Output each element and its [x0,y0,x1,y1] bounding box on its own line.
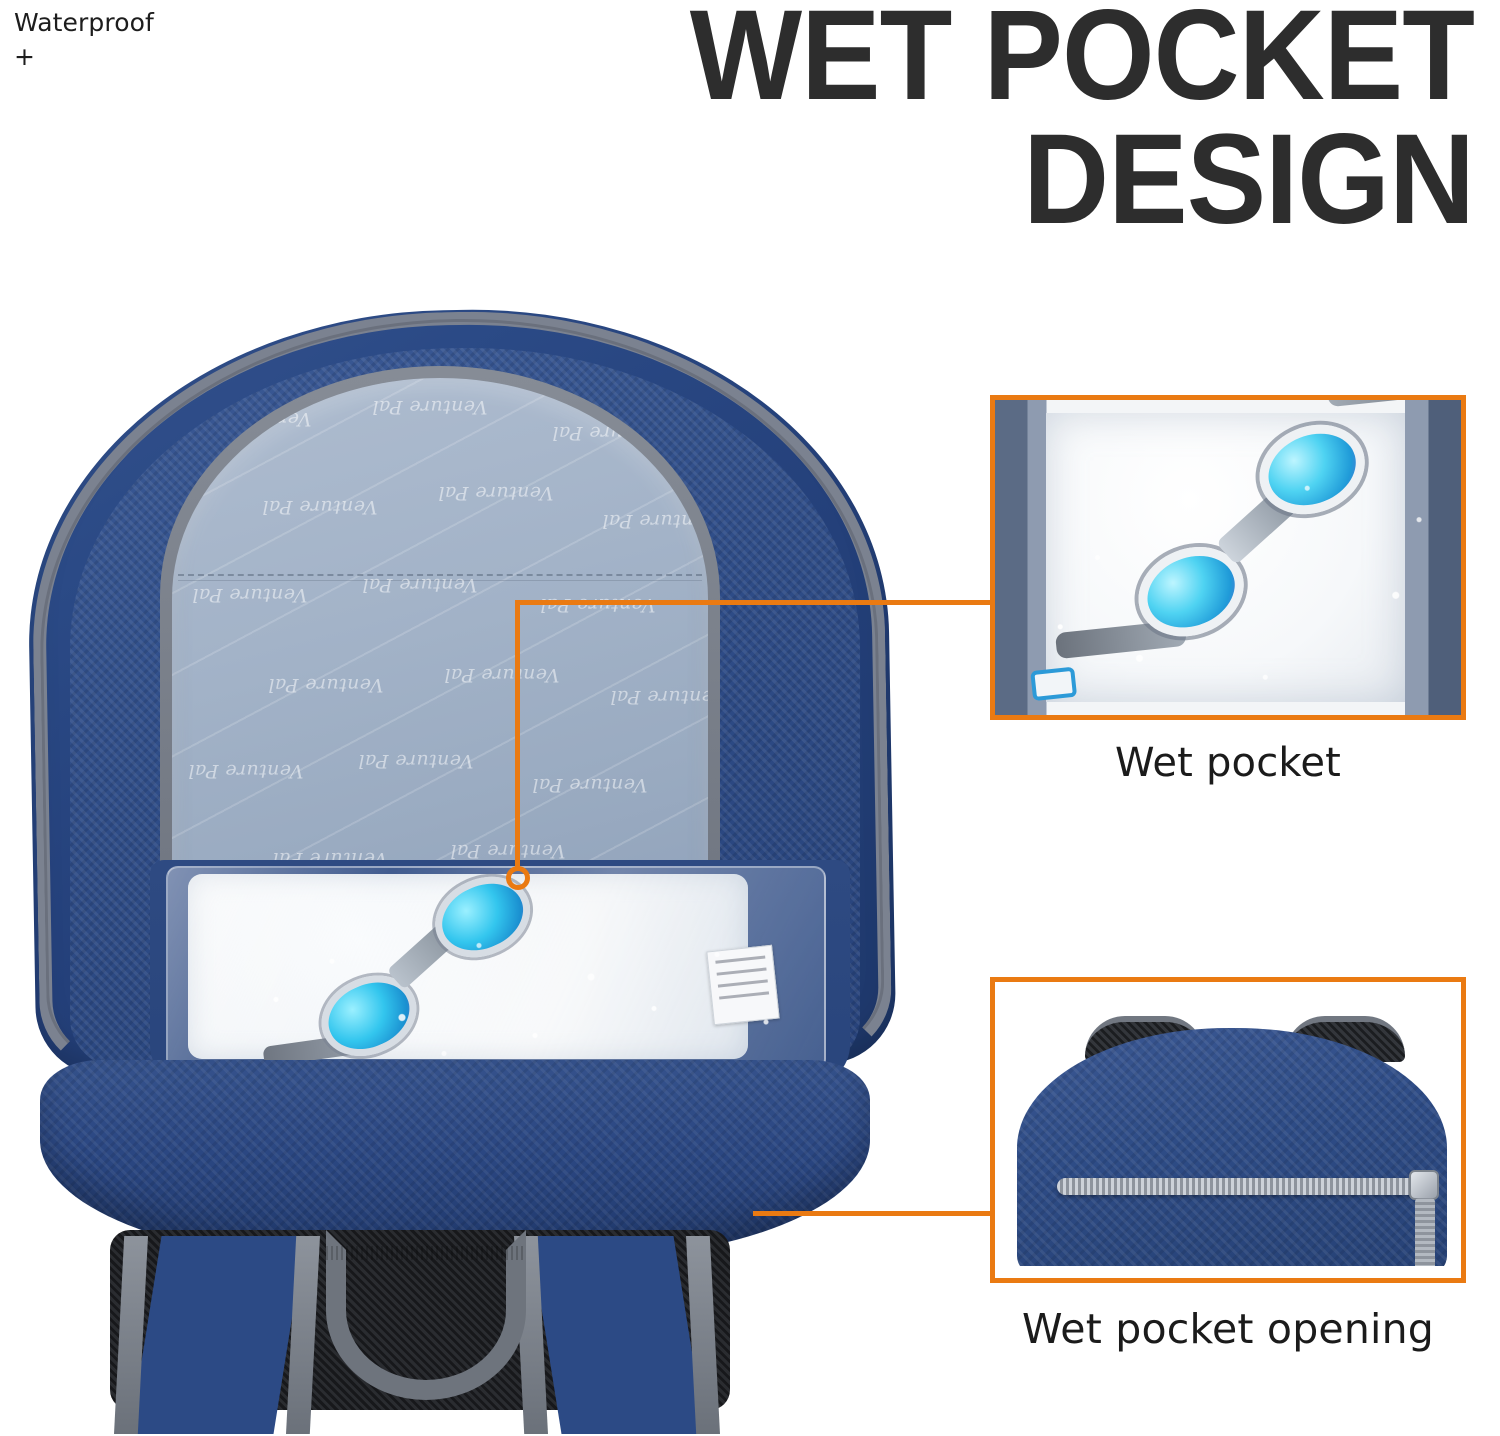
fabric-watermark: Venture Pal [602,510,708,532]
callout-marker-ring [506,866,530,890]
connector-line-bottom [753,1211,993,1216]
main-product-photo: Venture PalVenture PalVenture PalVenture… [0,300,960,1436]
connector-line-top-vertical [515,600,520,870]
detail-zipper-teeth [1057,1178,1425,1195]
fabric-watermark: Venture Pal [552,422,667,444]
fabric-watermark: Venture Pal [450,840,565,862]
product-feature-graphic: Waterproof + WET POCKET DESIGN Venture P… [0,0,1500,1436]
fabric-watermark: Venture Pal [188,760,303,782]
wet-pocket-detail-photo [995,400,1461,715]
fabric-watermark: Venture Pal [262,496,377,518]
fabric-watermark: Venture Pal [192,584,307,606]
fabric-watermark: Venture Pal [540,594,655,616]
fabric-watermark: Venture Pal [444,664,559,686]
waterproof-label: Waterproof + [14,6,154,74]
fabric-watermark: Venture Pal [268,674,383,696]
headline-line-1: WET POCKET [637,0,1474,118]
callout-panel-wet-pocket-opening [990,977,1466,1283]
fabric-watermark: Venture Pal [610,686,708,708]
fabric-watermark: Venture Pal [362,574,477,596]
connector-line-top-horizontal [515,600,993,605]
caption-wet-pocket-opening: Wet pocket opening [990,1305,1466,1353]
detail-zipper-pull-tab [1415,1198,1435,1266]
fabric-watermark: Venture Pal [358,750,473,772]
water-droplets [150,860,850,1085]
fabric-watermark: Venture Pal [196,408,311,430]
callout-panel-wet-pocket [990,395,1466,720]
wet-pocket-compartment [150,860,850,1085]
detail-zipper-pull [1409,1170,1439,1200]
page-title: WET POCKET DESIGN [637,0,1474,242]
detail-backpack-exterior [1017,1028,1447,1266]
detail-water-droplets [995,400,1461,715]
fabric-watermark: Venture Pal [438,482,553,504]
headline-line-2: DESIGN [637,118,1474,242]
fabric-watermark: Venture Pal [532,774,647,796]
caption-wet-pocket: Wet pocket [990,740,1466,786]
wet-pocket-opening-photo [1009,994,1447,1266]
shoulder-straps-group [90,1230,770,1436]
fabric-watermark: Venture Pal [372,396,487,418]
